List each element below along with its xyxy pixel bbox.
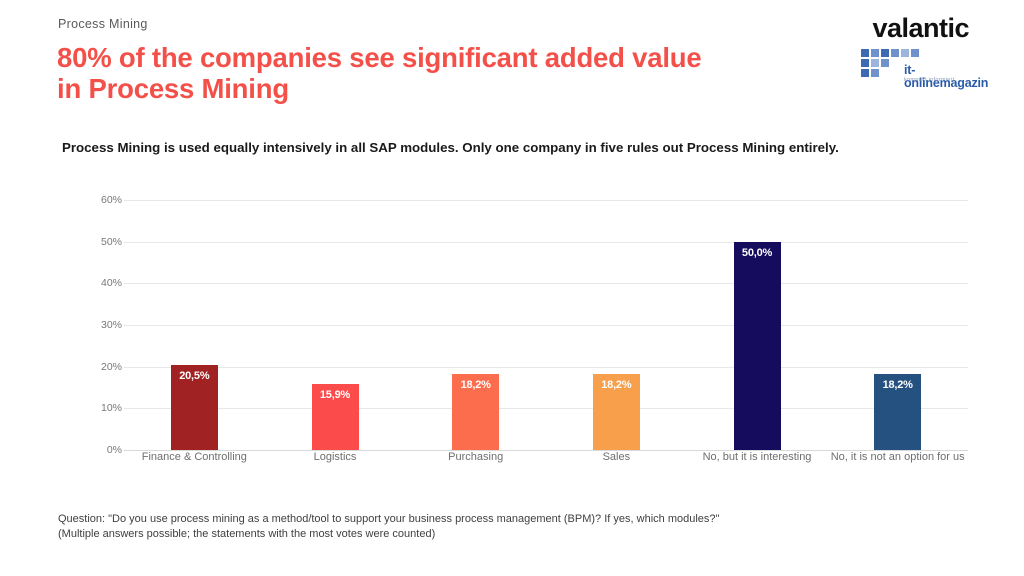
footnote-line-2: (Multiple answers possible; the statemen…: [58, 527, 958, 542]
headline-line-1: 80% of the companies see significant add…: [57, 42, 702, 73]
bar-column: 18,2%: [546, 200, 687, 450]
bar-value-label: 20,5%: [171, 370, 218, 382]
x-axis-tick-label: No, but it is interesting: [687, 446, 828, 480]
y-axis-tick-label: 60%: [64, 194, 122, 206]
bar-value-label: 15,9%: [312, 389, 359, 401]
x-axis-tick-label: No, it is not an option for us: [827, 446, 968, 480]
x-axis-tick-label: Finance & Controlling: [124, 446, 265, 480]
bar: 15,9%: [312, 384, 359, 450]
bar-value-label: 18,2%: [874, 379, 921, 391]
bar-column: 18,2%: [405, 200, 546, 450]
y-axis-tick-label: 40%: [64, 277, 122, 289]
y-axis: 0%10%20%30%40%50%60%: [58, 200, 122, 450]
bar-column: 18,2%: [827, 200, 968, 450]
bar: 50,0%: [734, 242, 781, 450]
bar: 18,2%: [452, 374, 499, 450]
headline-line-2: in Process Mining: [57, 73, 847, 104]
bar-column: 15,9%: [265, 200, 406, 450]
bar-column: 20,5%: [124, 200, 265, 450]
bar: 18,2%: [593, 374, 640, 450]
y-axis-tick-label: 30%: [64, 319, 122, 331]
bar-series: 20,5%15,9%18,2%18,2%50,0%18,2%: [124, 200, 968, 450]
bar-value-label: 18,2%: [593, 379, 640, 391]
bar-chart: 0%10%20%30%40%50%60% 20,5%15,9%18,2%18,2…: [58, 190, 968, 480]
it-onlinemagazin-tagline: kompakt informiert.: [904, 77, 956, 83]
bar-column: 50,0%: [687, 200, 828, 450]
footnote: Question: "Do you use process mining as …: [58, 512, 958, 542]
eyebrow-label: Process Mining: [58, 17, 148, 31]
y-axis-tick-label: 50%: [64, 236, 122, 248]
valantic-logo: valantic: [872, 15, 969, 42]
y-axis-tick-label: 20%: [64, 361, 122, 373]
footnote-line-1: Question: "Do you use process mining as …: [58, 512, 958, 527]
slide-root: Process Mining 80% of the companies see …: [0, 0, 1024, 576]
x-axis-labels: Finance & ControllingLogisticsPurchasing…: [124, 446, 968, 480]
subtitle-text: Process Mining is used equally intensive…: [62, 138, 962, 157]
y-axis-tick-label: 0%: [64, 444, 122, 456]
bar: 20,5%: [171, 365, 218, 450]
x-axis-tick-label: Purchasing: [405, 446, 546, 480]
x-axis-tick-label: Logistics: [265, 446, 406, 480]
page-title: 80% of the companies see significant add…: [57, 42, 847, 104]
bar-value-label: 18,2%: [452, 379, 499, 391]
it-onlinemagazin-logo: it-onlinemagazin kompakt informiert.: [861, 49, 986, 91]
bar-value-label: 50,0%: [734, 247, 781, 259]
x-axis-tick-label: Sales: [546, 446, 687, 480]
bar: 18,2%: [874, 374, 921, 450]
plot-area: 20,5%15,9%18,2%18,2%50,0%18,2%: [124, 200, 968, 450]
y-axis-tick-label: 10%: [64, 402, 122, 414]
